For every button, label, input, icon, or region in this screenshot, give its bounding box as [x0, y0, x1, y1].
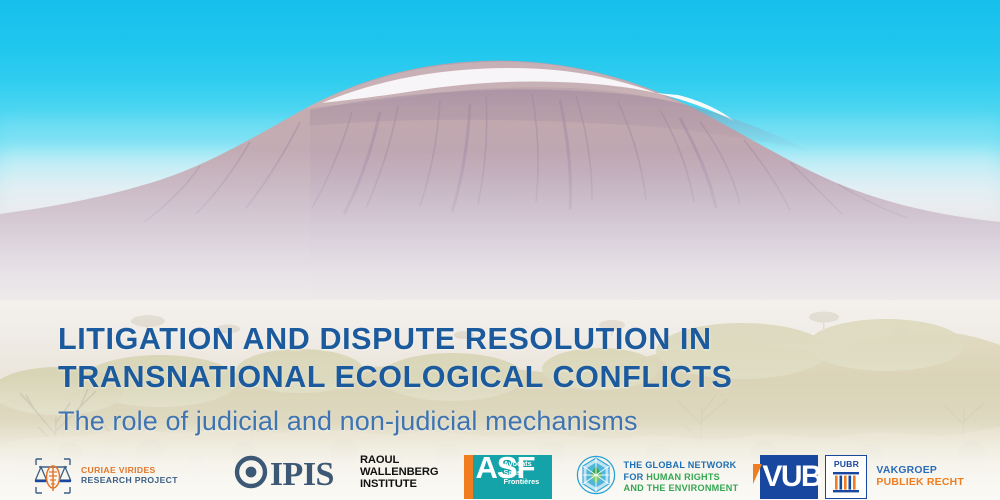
logo-vub[interactable]: VUB	[760, 455, 818, 499]
globe-network-icon	[576, 455, 616, 500]
logo-curiae-virides-line2: RESEARCH PROJECT	[81, 476, 178, 486]
page-title-line-2: TRANSNATIONAL ECOLOGICAL CONFLICTS	[58, 358, 958, 396]
vub-orange-accent	[753, 464, 762, 484]
page-title-line-1: LITIGATION AND DISPUTE RESOLUTION IN	[58, 320, 958, 358]
logo-raoul-wallenberg-institute[interactable]: RAOUL WALLENBERG INSTITUTE	[360, 455, 439, 490]
logo-pubr-line1: VAKGROEP	[876, 465, 964, 477]
logo-pubr-line2: PUBLIEK RECHT	[876, 477, 964, 489]
conference-poster: LITIGATION AND DISPUTE RESOLUTION IN TRA…	[0, 0, 1000, 500]
logo-ipis[interactable]: IPIS	[234, 455, 334, 494]
logo-pubr-badge: PUBR	[834, 459, 859, 469]
classical-columns-icon	[832, 471, 860, 498]
logo-asf-line1: Avocats	[504, 459, 552, 468]
logo-asf-line2: Sans Frontières	[504, 468, 552, 486]
title-block: LITIGATION AND DISPUTE RESOLUTION IN TRA…	[58, 320, 958, 438]
logo-vub-text: VUB	[762, 461, 821, 493]
page-subtitle: The role of judicial and non-judicial me…	[58, 404, 958, 438]
logo-gn-line1: THE GLOBAL NETWORK	[624, 460, 739, 472]
logo-gn-line3: AND THE ENVIRONMENT	[624, 483, 739, 495]
circle-dot-icon	[234, 455, 268, 494]
logo-vakgroep-publiek-recht[interactable]: PUBR VAKGROEP PUBLIEK RECHT	[825, 455, 964, 499]
logo-gn-line2a: FOR	[624, 472, 647, 482]
scales-of-justice-leaf-icon	[32, 455, 74, 497]
logo-avocats-sans-frontieres[interactable]: ASF Avocats Sans Frontières	[464, 455, 552, 499]
logo-curiae-virides[interactable]: CURIAE VIRIDES RESEARCH PROJECT	[32, 455, 178, 497]
logo-gn-line2b: HUMAN RIGHTS	[646, 472, 720, 482]
logo-rw-line1: RAOUL	[360, 455, 439, 467]
logo-rw-line3: INSTITUTE	[360, 479, 439, 491]
logo-global-network[interactable]: THE GLOBAL NETWORK FOR HUMAN RIGHTS AND …	[576, 455, 739, 500]
partner-logo-bar: CURIAE VIRIDES RESEARCH PROJECT IPIS RAO…	[0, 455, 1000, 500]
logo-rw-line2: WALLENBERG	[360, 467, 439, 479]
asf-orange-bar	[464, 455, 473, 499]
logo-ipis-text: IPIS	[270, 456, 334, 494]
